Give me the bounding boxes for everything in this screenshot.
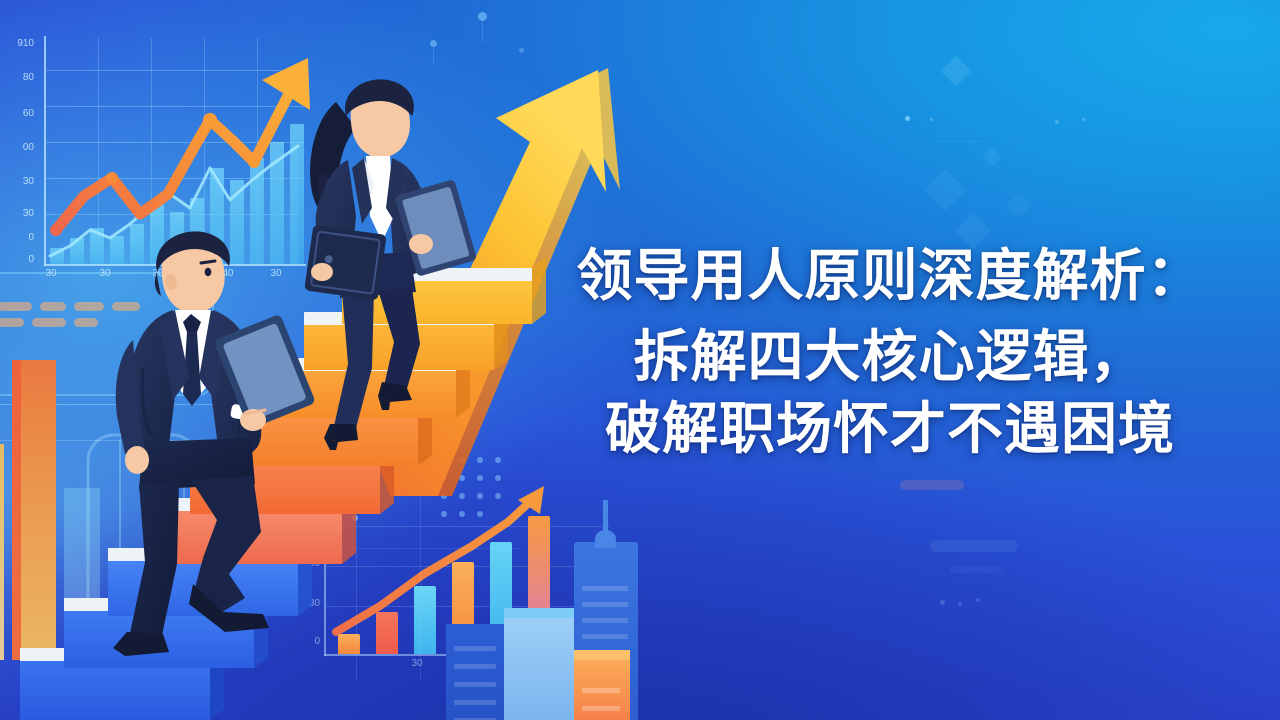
skyscraper-light-blue bbox=[504, 608, 574, 720]
title-line-1: 领导用人原则深度解析： bbox=[520, 244, 1260, 307]
title-block: 领导用人原则深度解析： 拆解四大核心逻辑， 破解职场怀才不遇困境 bbox=[520, 244, 1260, 460]
antenna-cap bbox=[595, 530, 616, 548]
businessman-climbing-stairs bbox=[95, 228, 345, 678]
skyscraper-dark-blue bbox=[446, 624, 504, 720]
skyscraper-orange bbox=[574, 650, 630, 720]
title-line-2: 拆解四大核心逻辑， bbox=[520, 325, 1260, 388]
title-line-3: 破解职场怀才不遇困境 bbox=[520, 397, 1260, 460]
cover-image: 910 80 60 00 30 30 0 0 bbox=[0, 0, 1280, 720]
